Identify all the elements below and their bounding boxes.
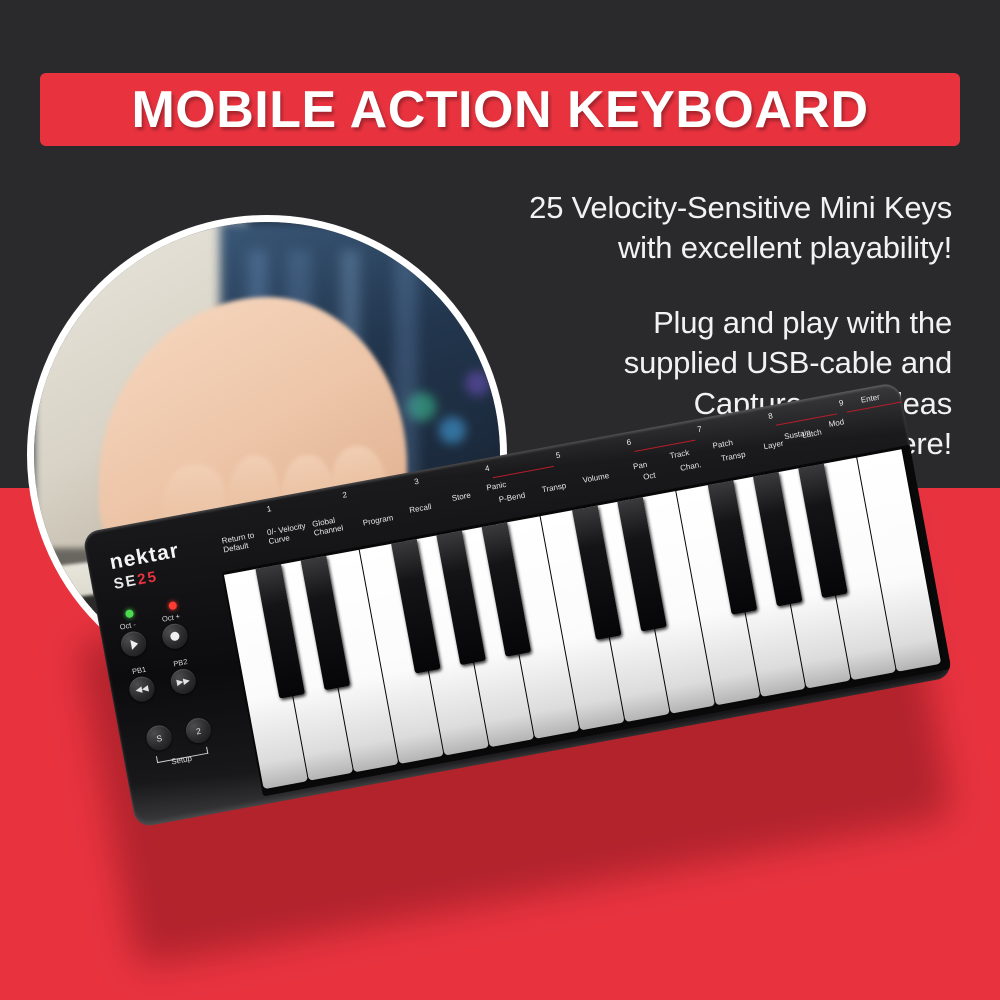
brand-block: nektar SE25 <box>108 540 184 592</box>
strip-number: 2 <box>342 490 348 500</box>
setup-2-button[interactable]: 2 <box>184 716 213 745</box>
model-suffix: 25 <box>136 568 159 588</box>
strip-number: 4 <box>484 464 490 474</box>
strip-label: Track <box>669 449 690 461</box>
strip-divider <box>493 466 554 479</box>
strip-label: Mod <box>828 418 845 430</box>
octave-up-label: Oct + <box>161 612 180 624</box>
strip-label: Layer <box>763 440 784 452</box>
play-icon <box>130 638 139 649</box>
title-banner: MOBILE ACTION KEYBOARD <box>40 73 960 146</box>
strip-label: Return to Default <box>221 530 264 555</box>
strip-label: Enter <box>860 393 880 405</box>
strip-number: 3 <box>413 477 419 487</box>
page-title: MOBILE ACTION KEYBOARD <box>131 80 868 140</box>
strip-label: Global Channel <box>312 513 357 538</box>
record-icon <box>170 631 180 641</box>
strip-label: Program <box>362 514 394 528</box>
copy-line: 25 Velocity-Sensitive Mini Keys <box>432 188 952 228</box>
record-button[interactable] <box>160 622 189 651</box>
product-keyboard: nektar SE25 Oct - Oct + PB1 ◀◀ PB2 ▶▶ S … <box>70 505 930 925</box>
strip-number: 5 <box>555 451 561 461</box>
octave-down-label: Oct - <box>119 620 137 632</box>
strip-label: P-Bend <box>498 492 526 506</box>
product-marketing-image: MOBILE ACTION KEYBOARD 25 Velocity-Sensi… <box>0 0 1000 1000</box>
play-button[interactable] <box>119 629 148 658</box>
strip-label: Pan <box>633 461 649 472</box>
strip-label: Panic <box>486 481 507 493</box>
strip-label: Oct <box>643 472 657 483</box>
strip-label: Transp <box>721 451 747 464</box>
fast-forward-icon: ▶▶ <box>176 675 191 688</box>
octave-down-led <box>125 609 134 618</box>
strip-number: 6 <box>626 437 632 447</box>
pb2-label: PB2 <box>173 657 189 668</box>
setup-s-button[interactable]: S <box>145 723 174 752</box>
strip-label: 0/- Velocity Curve <box>266 522 309 547</box>
feature-paragraph-1: 25 Velocity-Sensitive Mini Keys with exc… <box>432 188 952 269</box>
strip-label: Volume <box>582 472 610 486</box>
copy-line: with excellent playability! <box>432 228 952 268</box>
copy-line: Plug and play with the <box>532 303 952 343</box>
strip-label: Store <box>451 492 471 504</box>
model-prefix: SE <box>112 572 139 593</box>
rewind-icon: ◀◀ <box>135 683 150 696</box>
two-button-label: 2 <box>195 725 201 736</box>
pb1-button[interactable]: ◀◀ <box>127 675 156 704</box>
s-button-label: S <box>155 732 162 743</box>
strip-number: 8 <box>767 411 773 421</box>
strip-label: Patch <box>712 439 734 452</box>
octave-up-led <box>168 601 177 610</box>
strip-label: Recall <box>409 503 432 516</box>
strip-number: 9 <box>838 398 844 408</box>
copy-line: supplied USB-cable and <box>532 343 952 383</box>
pb1-label: PB1 <box>131 665 147 676</box>
strip-number: 1 <box>266 504 272 514</box>
strip-label: Chan. <box>680 461 703 474</box>
strip-label: Transp <box>541 482 567 495</box>
pb2-button[interactable]: ▶▶ <box>169 667 198 696</box>
strip-number: 7 <box>697 424 703 434</box>
